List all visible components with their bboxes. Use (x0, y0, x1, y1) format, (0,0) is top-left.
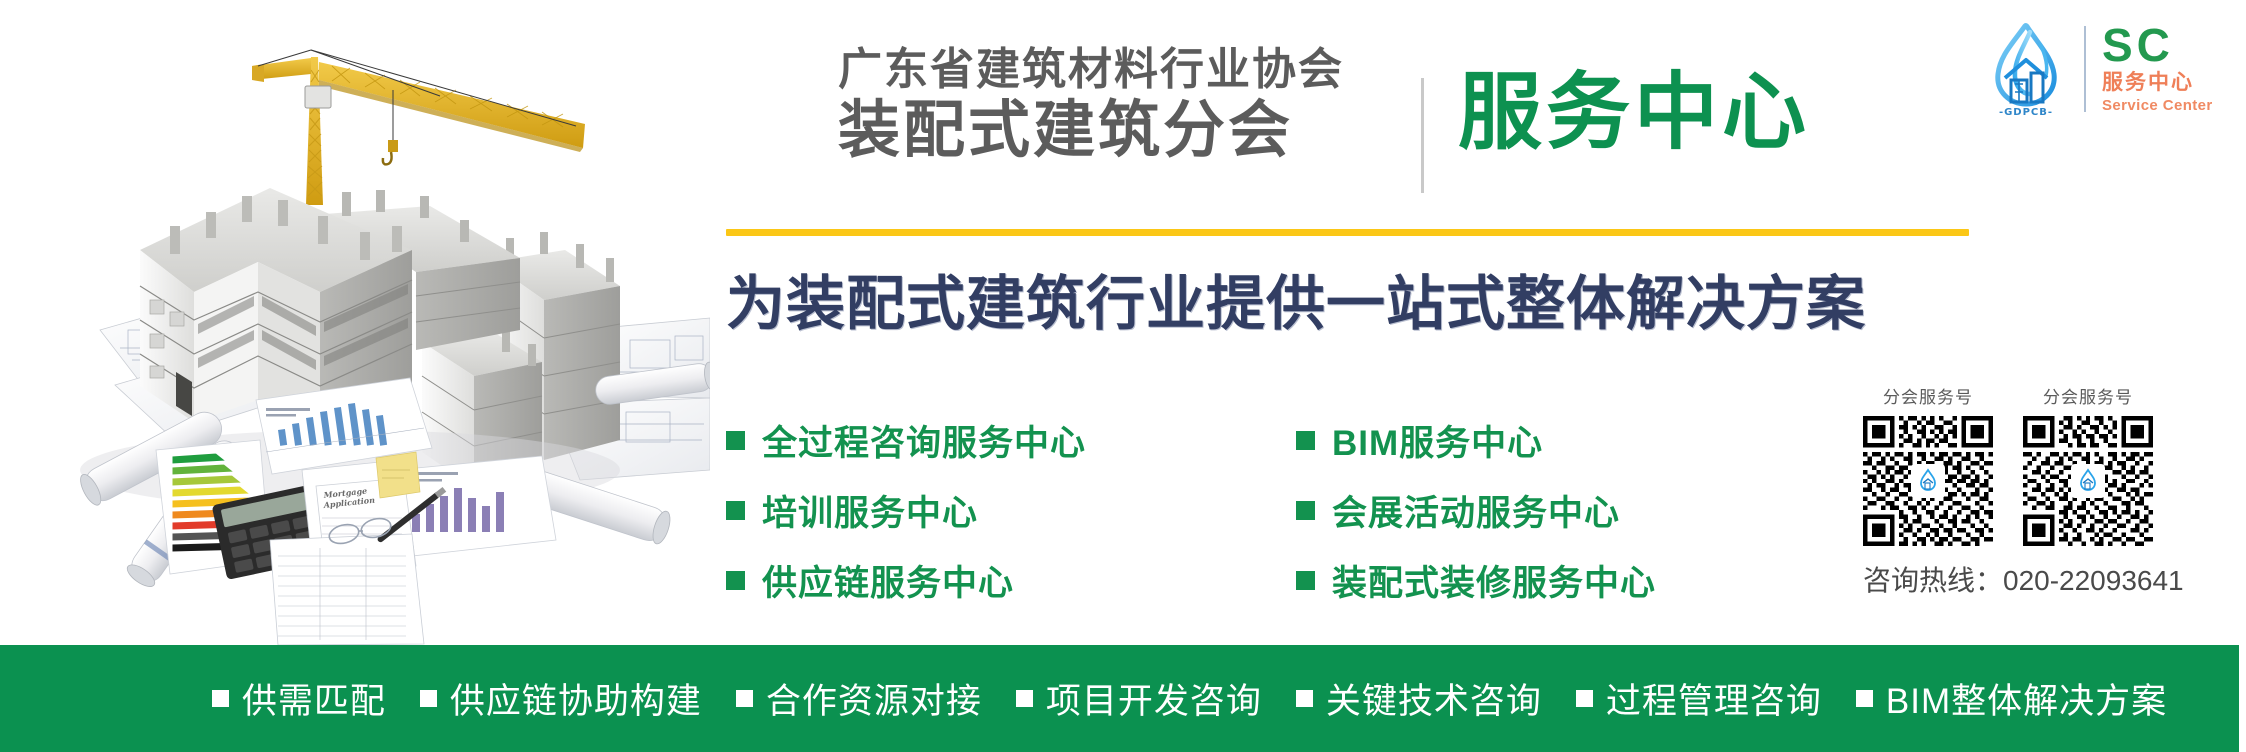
keyword-item[interactable]: BIM整体解决方案 (1856, 673, 2167, 724)
qr-cell: 分会服务号 (2023, 383, 2153, 546)
keyword-label: BIM整体解决方案 (1886, 673, 2167, 724)
gdpcb-wordmark: -GDPCB- (1999, 107, 2053, 118)
service-item[interactable]: 装配式装修服务中心 (1296, 545, 1656, 615)
keyword-item[interactable]: 合作资源对接 (736, 673, 982, 724)
service-center-heading: 服务中心 (1458, 70, 1810, 154)
square-bullet-icon (1856, 690, 1873, 707)
service-item[interactable]: BIM服务中心 (1296, 405, 1656, 475)
qr-caption: 分会服务号 (2023, 383, 2153, 408)
service-item[interactable]: 会展活动服务中心 (1296, 475, 1656, 545)
keyword-label: 供应链协助构建 (450, 673, 702, 724)
hotline-text: 咨询热线：020-22093641 (1863, 559, 2203, 599)
title-vertical-divider (1421, 78, 1424, 193)
logo-divider (2084, 26, 2086, 112)
form-document (270, 534, 424, 645)
qr-center-logo-icon (1911, 464, 1945, 498)
page-slogan: 为装配式建筑行业提供一站式整体解决方案 (726, 256, 1866, 341)
org-title-block: 广东省建筑材料行业协会 装配式建筑分会 (838, 48, 1438, 162)
bottom-keyword-bar: 供需匹配 供应链协助构建 合作资源对接 项目开发咨询 关键技术咨询 过程管理咨询 (0, 645, 2239, 752)
gdpcb-house-flame-icon: -GDPCB- (1978, 20, 2074, 118)
square-bullet-icon (726, 501, 745, 520)
qr-cell: 分会服务号 (1863, 383, 1993, 546)
keyword-label: 供需匹配 (242, 673, 386, 724)
keyword-item[interactable]: 关键技术咨询 (1296, 673, 1542, 724)
square-bullet-icon (1016, 690, 1033, 707)
service-item[interactable]: 供应链服务中心 (726, 545, 1086, 615)
keyword-label: 合作资源对接 (766, 673, 982, 724)
qr-center-logo-icon (2071, 464, 2105, 498)
crane-icon (252, 50, 585, 205)
qr-code-image[interactable] (2023, 416, 2153, 546)
service-item-label: 全过程咨询服务中心 (762, 415, 1086, 466)
bottom-keyword-list: 供需匹配 供应链协助构建 合作资源对接 项目开发咨询 关键技术咨询 过程管理咨询 (72, 673, 2167, 724)
service-item-label: BIM服务中心 (1332, 415, 1543, 466)
banner-root: Mortgage Application (0, 0, 2246, 752)
sc-logotype: SC 服务中心 Service Center (2102, 23, 2213, 114)
service-list-left: 全过程咨询服务中心 培训服务中心 供应链服务中心 (726, 405, 1086, 615)
service-item[interactable]: 培训服务中心 (726, 475, 1086, 545)
brand-logo[interactable]: -GDPCB- SC 服务中心 Service Center (1978, 18, 2230, 120)
square-bullet-icon (1296, 571, 1315, 590)
keyword-item[interactable]: 过程管理咨询 (1576, 673, 1822, 724)
square-bullet-icon (420, 690, 437, 707)
service-item-label: 装配式装修服务中心 (1332, 555, 1656, 606)
keyword-label: 过程管理咨询 (1606, 673, 1822, 724)
keyword-item[interactable]: 供需匹配 (212, 673, 386, 724)
square-bullet-icon (1296, 431, 1315, 450)
hero-illustration: Mortgage Application (20, 0, 710, 645)
qr-code-image[interactable] (1863, 416, 1993, 546)
keyword-item[interactable]: 供应链协助构建 (420, 673, 702, 724)
square-bullet-icon (1296, 501, 1315, 520)
service-item-label: 供应链服务中心 (762, 555, 1014, 606)
qr-caption: 分会服务号 (1863, 383, 1993, 408)
square-bullet-icon (212, 690, 229, 707)
qr-contact-block: 分会服务号 (1863, 383, 2203, 599)
square-bullet-icon (726, 571, 745, 590)
service-list-right: BIM服务中心 会展活动服务中心 装配式装修服务中心 (1296, 405, 1656, 615)
square-bullet-icon (1576, 690, 1593, 707)
keyword-item[interactable]: 项目开发咨询 (1016, 673, 1262, 724)
org-title-line1: 广东省建筑材料行业协会 (838, 48, 1438, 93)
square-bullet-icon (1296, 690, 1313, 707)
keyword-label: 项目开发咨询 (1046, 673, 1262, 724)
square-bullet-icon (726, 431, 745, 450)
sticky-note (376, 452, 420, 498)
qr-row: 分会服务号 (1863, 383, 2203, 546)
sc-initials: SC (2102, 23, 2213, 67)
square-bullet-icon (736, 690, 753, 707)
keyword-label: 关键技术咨询 (1326, 673, 1542, 724)
service-item[interactable]: 全过程咨询服务中心 (726, 405, 1086, 475)
sc-english-label: Service Center (2102, 97, 2213, 115)
service-item-label: 会展活动服务中心 (1332, 485, 1620, 536)
sc-chinese-label: 服务中心 (2102, 70, 2213, 96)
yellow-divider-rule (726, 229, 1969, 236)
org-title-line2: 装配式建筑分会 (838, 99, 1438, 162)
service-item-label: 培训服务中心 (762, 485, 978, 536)
